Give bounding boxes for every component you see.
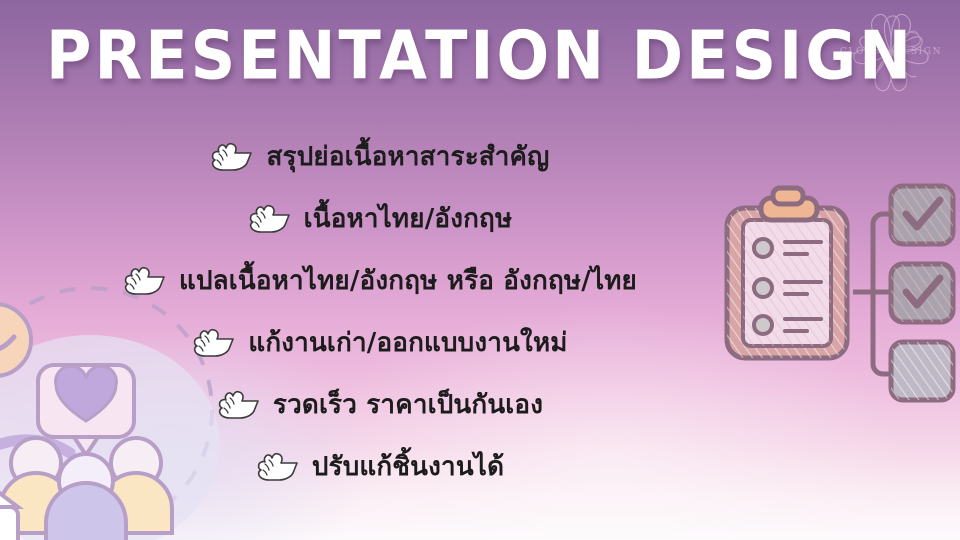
list-item-label: สรุปย่อเนื้อหาสาระสำคัญ [266, 136, 549, 177]
list-item: แปลเนื้อหาไทย/อังกฤษ หรือ อังกฤษ/ไทย [123, 249, 637, 311]
pointing-hand-icon [192, 325, 238, 359]
pointing-hand-icon [256, 449, 302, 483]
clipboard-checklist-illustration [725, 180, 960, 410]
list-item: รวดเร็ว ราคาเป็นกันเอง [217, 373, 543, 435]
list-item-label: เนื้อหาไทย/อังกฤษ [304, 198, 513, 239]
pointing-hand-icon [248, 201, 294, 235]
list-item: ปรับแก้ชิ้นงานได้ [256, 435, 504, 497]
pointing-hand-icon [123, 263, 169, 297]
page-title: PRESENTATION DESIGN [0, 16, 960, 95]
list-item: สรุปย่อเนื้อหาสาระสำคัญ [210, 125, 549, 187]
list-item-label: แปลเนื้อหาไทย/อังกฤษ หรือ อังกฤษ/ไทย [179, 260, 637, 301]
list-item-label: แก้งานเก่า/ออกแบบงานใหม่ [248, 322, 567, 363]
connector-lines [853, 214, 891, 374]
checkbox-card-checked [891, 264, 953, 322]
list-item: เนื้อหาไทย/อังกฤษ [248, 187, 513, 249]
pointing-hand-icon [210, 139, 256, 173]
bullet-list: สรุปย่อเนื้อหาสาระสำคัญ เนื้อหาไทย/อังกฤ… [0, 125, 760, 497]
slide-canvas: CLOVER DESIGN PRESENTATION DESIGN สรุปย่… [0, 0, 960, 540]
checkbox-card-empty [891, 342, 953, 400]
list-item-label: รวดเร็ว ราคาเป็นกันเอง [273, 384, 543, 425]
pointing-hand-icon [217, 387, 263, 421]
list-item-label: ปรับแก้ชิ้นงานได้ [312, 446, 504, 487]
checkbox-card-checked [891, 186, 953, 244]
list-item: แก้งานเก่า/ออกแบบงานใหม่ [192, 311, 567, 373]
